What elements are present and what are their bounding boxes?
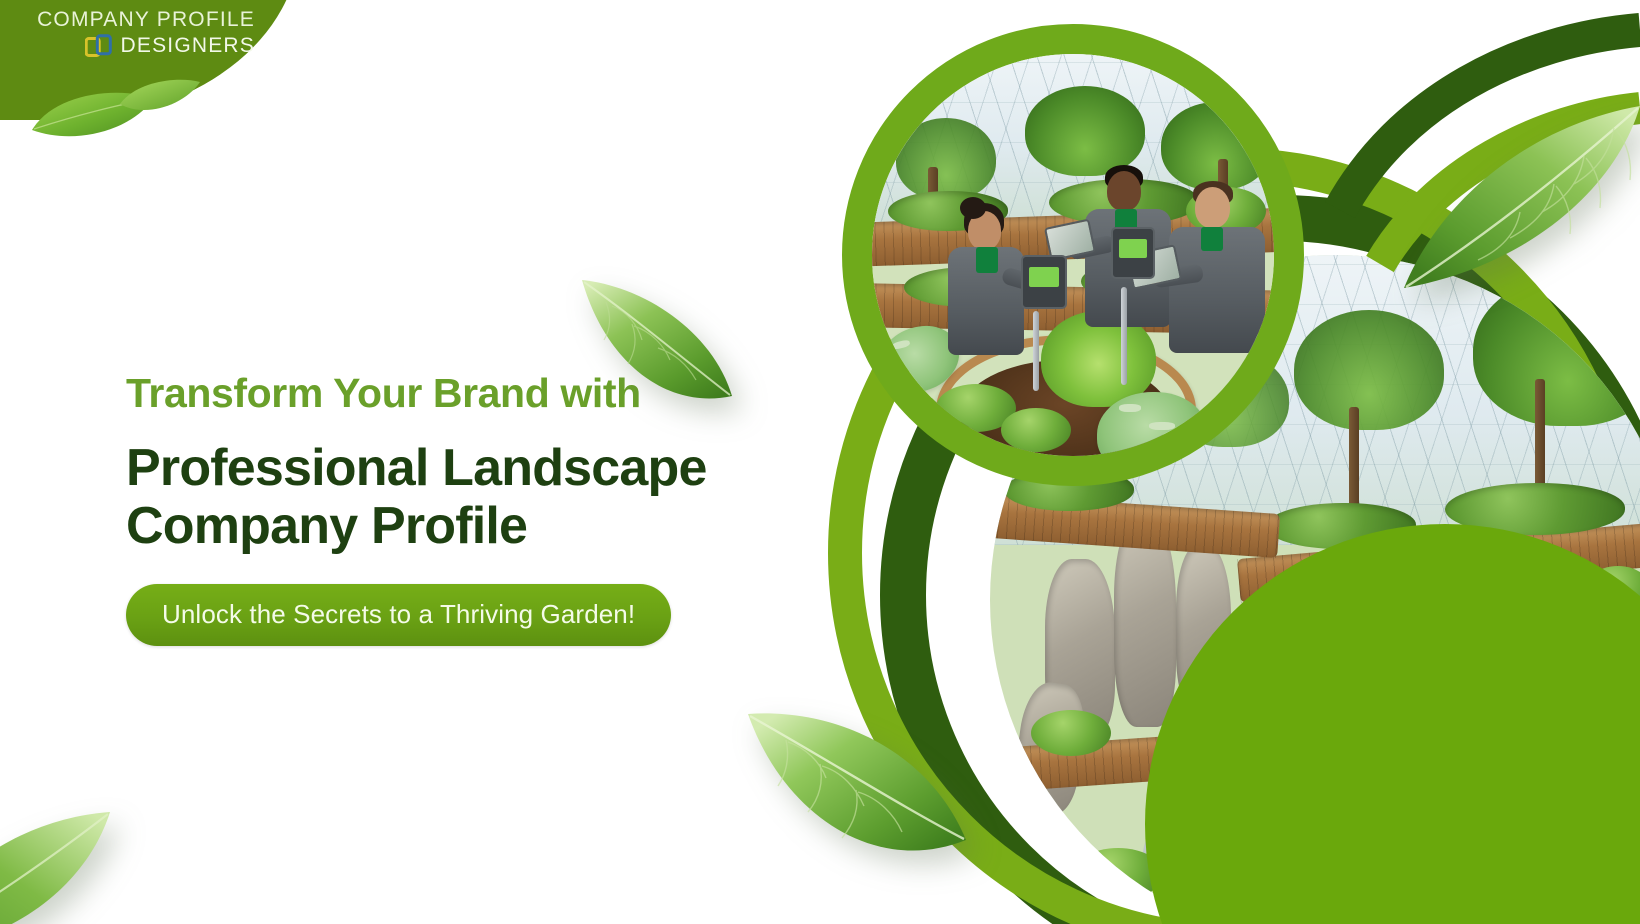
brand-line-2: DESIGNERS — [121, 34, 256, 58]
hero-copy: Transform Your Brand with Professional L… — [126, 372, 826, 646]
photo-team-soil-testing — [872, 54, 1274, 456]
top-right-arcs — [1220, 0, 1640, 330]
cover-canvas: COMPANY PROFILE DESIGNERS — [0, 0, 1640, 924]
page-title: Professional Landscape Company Profile — [126, 439, 806, 555]
tagline-pill-button[interactable]: Unlock the Secrets to a Thriving Garden! — [126, 584, 671, 646]
brand-line-1: COMPANY PROFILE — [37, 8, 255, 32]
hero-eyebrow: Transform Your Brand with — [126, 372, 826, 415]
overlapping-squares-logo-icon — [85, 34, 112, 58]
leaf-blob-tiny-icon — [118, 74, 202, 118]
leaf-bottom-left-icon — [0, 808, 118, 924]
title-line-2: Company Profile — [126, 497, 806, 555]
title-line-1: Professional Landscape — [126, 439, 806, 497]
